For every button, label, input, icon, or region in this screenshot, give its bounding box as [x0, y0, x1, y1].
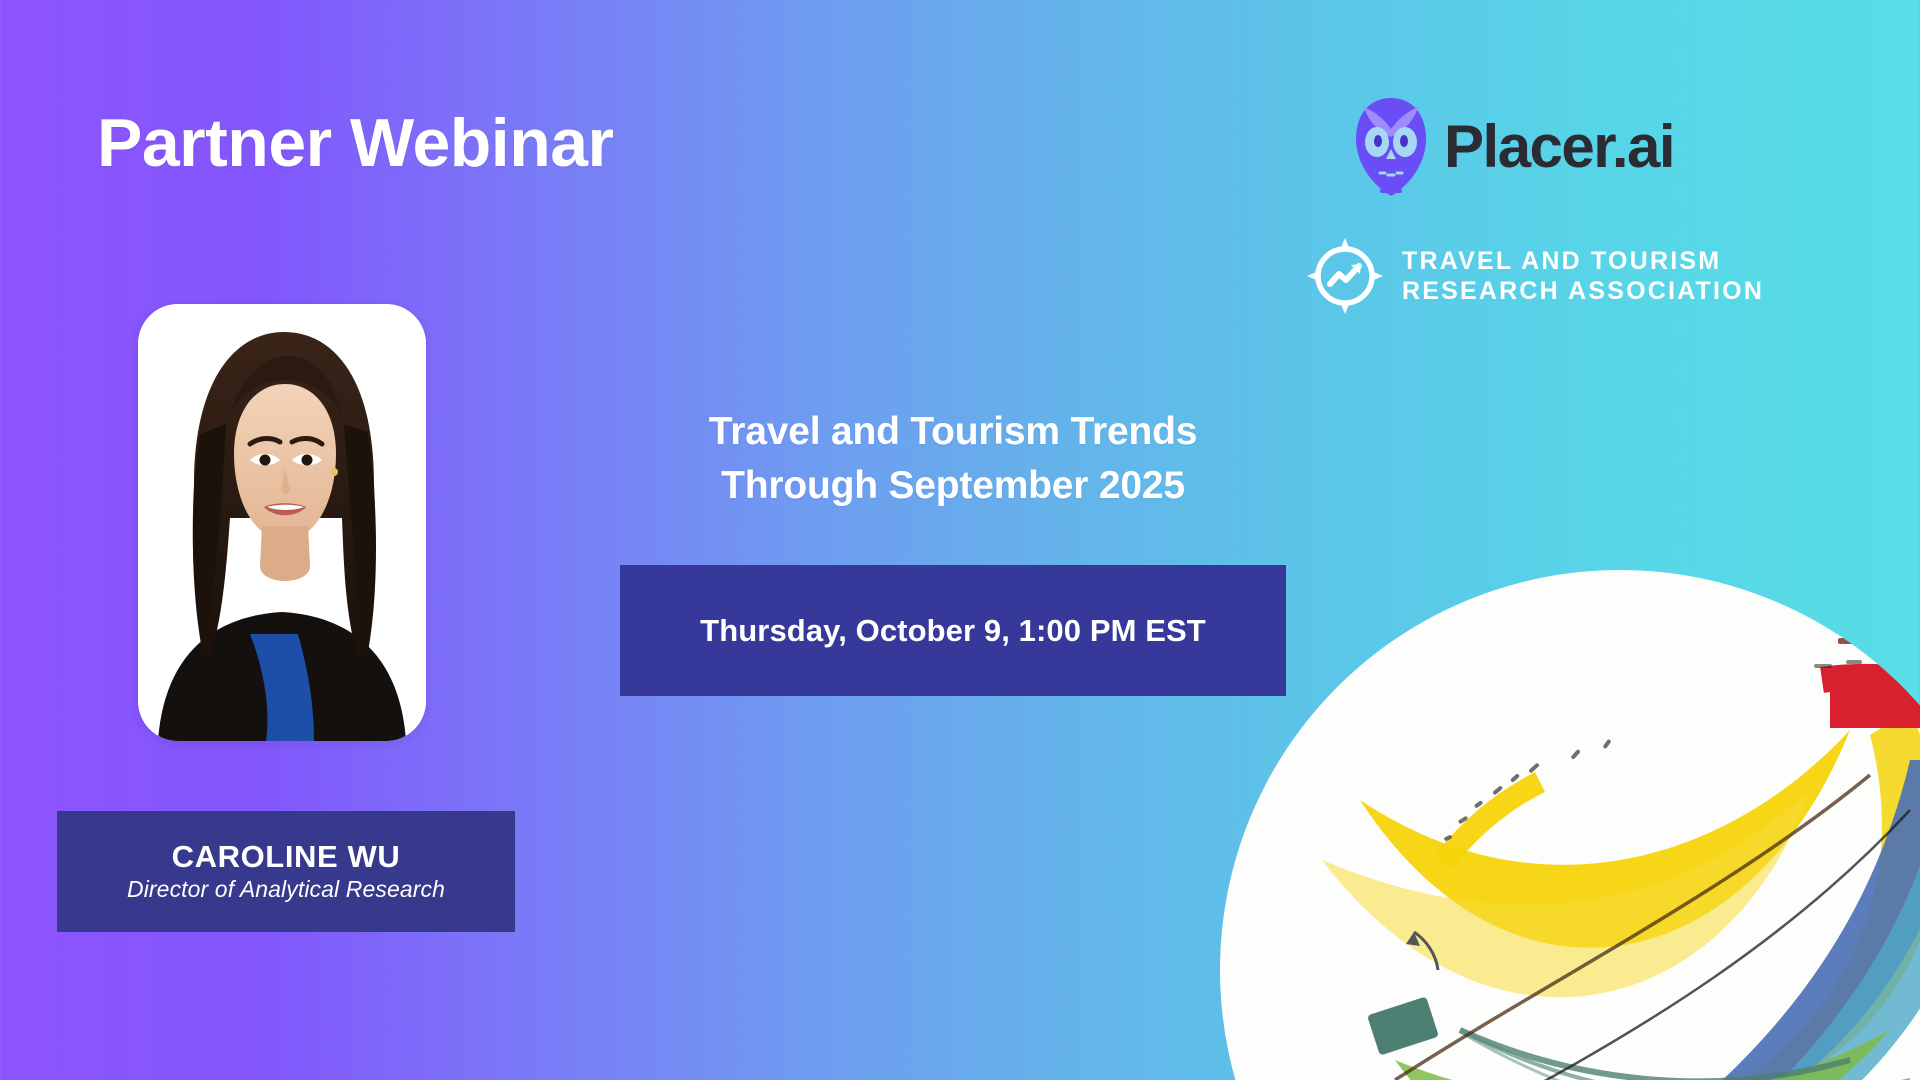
webinar-heading-line-2: Through September 2025 — [721, 464, 1185, 507]
owl-icon — [1352, 95, 1430, 199]
webinar-date-banner: Thursday, October 9, 1:00 PM EST — [620, 565, 1286, 696]
webinar-date-text: Thursday, October 9, 1:00 PM EST — [700, 613, 1206, 649]
chord-diagram-decoration — [1210, 560, 1920, 1080]
ttra-logo: TRAVEL AND TOURISM RESEARCH ASSOCIATION — [1307, 238, 1764, 314]
speaker-headshot — [138, 304, 426, 741]
ttra-line-1: TRAVEL AND TOURISM — [1402, 247, 1721, 275]
compass-trend-icon — [1307, 238, 1383, 314]
placer-wordmark: Placer.ai — [1444, 117, 1674, 177]
ttra-line-2: RESEARCH ASSOCIATION — [1402, 277, 1764, 305]
speaker-name: CAROLINE WU — [172, 840, 401, 874]
ttra-wordmark: TRAVEL AND TOURISM RESEARCH ASSOCIATION — [1402, 246, 1764, 307]
speaker-role: Director of Analytical Research — [127, 877, 445, 902]
page-title: Partner Webinar — [97, 108, 614, 179]
placer-ai-logo: Placer.ai — [1352, 95, 1674, 199]
webinar-heading-line-1: Travel and Tourism Trends — [709, 410, 1197, 453]
speaker-name-plate: CAROLINE WU Director of Analytical Resea… — [57, 811, 515, 932]
webinar-heading: Travel and Tourism Trends Through Septem… — [620, 405, 1286, 513]
